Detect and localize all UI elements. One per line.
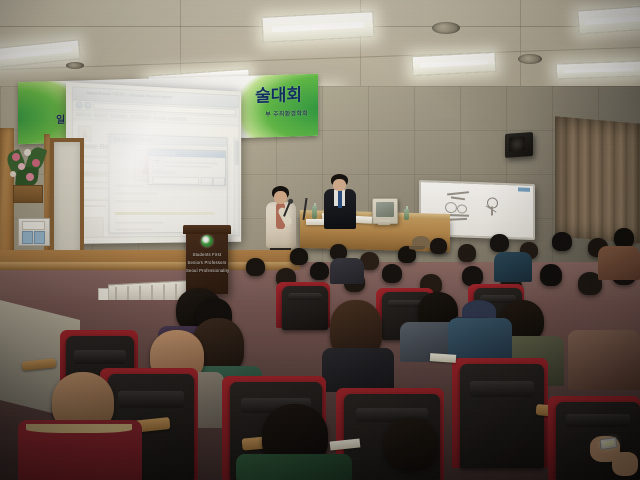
wall-speaker-icon bbox=[505, 132, 533, 158]
forward-icon bbox=[85, 102, 92, 109]
whiteboard-tab bbox=[518, 187, 530, 191]
audience-body bbox=[494, 252, 532, 282]
switch-2[interactable] bbox=[34, 231, 45, 244]
water-bottle-2 bbox=[404, 209, 409, 220]
audience-body bbox=[322, 348, 394, 392]
flower-basket bbox=[13, 185, 43, 203]
back-icon bbox=[76, 101, 83, 108]
water-bottle-1 bbox=[312, 206, 317, 219]
podium-text-line-2: Seniors Professors bbox=[186, 260, 228, 265]
menu-file bbox=[76, 112, 92, 117]
projection-screen: Adobe Reader 다운로드 - Windows Internet Exp… bbox=[66, 82, 241, 244]
hand bbox=[612, 452, 638, 476]
audience-head bbox=[490, 234, 509, 252]
audience-head bbox=[384, 418, 438, 470]
audience-body bbox=[330, 258, 364, 284]
ceiling-vent-3 bbox=[66, 62, 84, 69]
ceiling-light-6 bbox=[556, 61, 640, 80]
presenter-1-face bbox=[274, 191, 287, 204]
audience-body bbox=[448, 318, 512, 362]
audience-head bbox=[430, 238, 447, 254]
presenter-2-face bbox=[333, 179, 346, 191]
floral-arrangement bbox=[6, 143, 50, 201]
handout-paper bbox=[430, 353, 456, 363]
control-panel[interactable] bbox=[18, 218, 50, 246]
audience-cap-icon bbox=[412, 236, 430, 248]
audience-body bbox=[598, 246, 640, 280]
modal-body bbox=[149, 156, 225, 185]
audience-head bbox=[290, 248, 308, 265]
audience-body bbox=[236, 454, 352, 480]
audience-head bbox=[246, 258, 265, 276]
audience-body-collar bbox=[26, 424, 132, 433]
banner-organizer: 부 주최환경학회 bbox=[265, 108, 308, 118]
presenter-in-suit bbox=[322, 174, 358, 226]
menu-favorites bbox=[130, 115, 150, 120]
menu-view bbox=[110, 114, 127, 119]
seat-back bbox=[282, 286, 328, 330]
filename-input[interactable] bbox=[152, 176, 199, 184]
cancel-button[interactable] bbox=[213, 177, 225, 186]
monitor-stand bbox=[378, 220, 390, 225]
menu-edit bbox=[94, 113, 107, 118]
banner-title: 술대회 bbox=[255, 80, 302, 106]
projected-save-modal: 다른 이름으로 저장 bbox=[148, 148, 226, 186]
audience-head bbox=[382, 264, 402, 283]
auditorium-photo: 2 일시 술대회 부 주최환경학회 Adobe Reader 다운로드 - Wi… bbox=[0, 0, 640, 480]
ceiling-speaker-vent-2 bbox=[518, 54, 542, 64]
audience-head bbox=[552, 232, 572, 251]
audience-head bbox=[614, 228, 634, 248]
browser-scrollbar[interactable] bbox=[234, 137, 239, 236]
ceiling-light-5 bbox=[577, 6, 640, 35]
ceiling-speaker-vent-1 bbox=[432, 22, 460, 34]
scrollbar-thumb[interactable] bbox=[234, 141, 238, 165]
university-crest-icon bbox=[201, 235, 213, 247]
menu-tools bbox=[153, 116, 166, 120]
necktie bbox=[338, 190, 342, 208]
window-curtain bbox=[555, 116, 640, 243]
seat-back bbox=[460, 364, 544, 468]
audience-body bbox=[568, 330, 640, 390]
smartphone[interactable] bbox=[599, 437, 617, 450]
podium-text-line-1: Students First bbox=[186, 252, 228, 257]
panel-display bbox=[22, 221, 45, 230]
podium-text-line-3: Seoul Professionality bbox=[186, 268, 228, 273]
switch-1[interactable] bbox=[22, 231, 33, 244]
confirm-button[interactable] bbox=[201, 177, 213, 186]
menu-help bbox=[169, 116, 187, 121]
audience-head bbox=[462, 266, 483, 286]
left-door-panel bbox=[50, 138, 84, 264]
presenter-with-microphone bbox=[264, 186, 298, 258]
audience-head bbox=[540, 264, 562, 286]
audience-head bbox=[458, 244, 476, 262]
audience-head bbox=[310, 262, 329, 280]
question-icon bbox=[152, 160, 162, 171]
podium: Students First Seniors Professors Seoul … bbox=[186, 230, 228, 294]
